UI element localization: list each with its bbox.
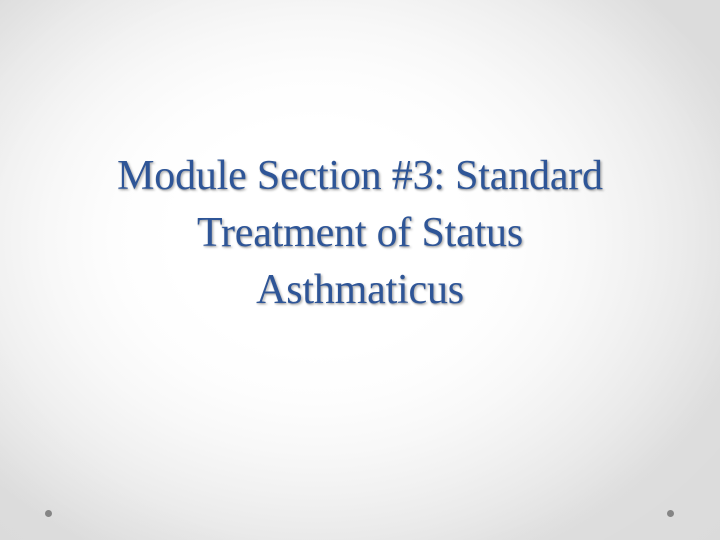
slide-title-line-1: Module Section #3: Standard: [12, 148, 708, 205]
bottom-left-dot-icon: [45, 510, 52, 517]
bottom-right-dot-icon: [667, 510, 674, 517]
slide-title: Module Section #3: Standard Treatment of…: [12, 148, 708, 319]
slide-title-line-3: Asthmaticus: [12, 262, 708, 319]
slide-title-line-2: Treatment of Status: [12, 205, 708, 262]
title-slide: Module Section #3: Standard Treatment of…: [0, 0, 720, 540]
